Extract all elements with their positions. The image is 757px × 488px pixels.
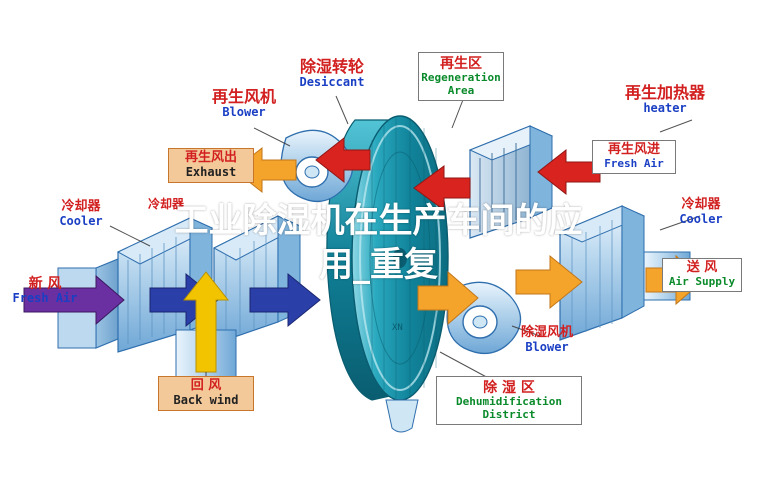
label-supply-air: 送 风 Air Supply — [662, 258, 742, 292]
regeneration-heater — [470, 126, 552, 238]
label-desiccant-wheel: 除湿转轮 Desiccant — [284, 58, 380, 90]
label-cooler-left: 冷却器 Cooler — [44, 200, 118, 229]
label-back-wind: 回 风 Back wind — [158, 376, 254, 411]
diagram-canvas: XN — [0, 0, 757, 488]
process-duct-2 — [214, 216, 300, 344]
label-dehumidification-district: 除 湿 区 Dehumidification District — [436, 376, 582, 425]
label-regeneration-blower: 再生风机 Blower — [196, 88, 292, 120]
right-cooler-block — [560, 206, 644, 340]
label-cooler-right: 冷却器 Cooler — [664, 198, 738, 227]
label-regeneration-inlet: 再生风进 Fresh Air — [592, 140, 676, 174]
label-regeneration-heater: 再生加热器 heater — [610, 84, 720, 116]
label-dehumidifying-blower: 除湿风机 Blower — [498, 326, 596, 355]
svg-text:XN: XN — [392, 323, 403, 333]
label-regeneration-area: 再生区 Regeneration Area — [418, 52, 504, 101]
label-cooler-middle: 冷却器 — [136, 198, 196, 212]
label-regeneration-exhaust: 再生风出 Exhaust — [168, 148, 254, 183]
label-fresh-air: 新 风 Fresh Air — [2, 276, 88, 306]
